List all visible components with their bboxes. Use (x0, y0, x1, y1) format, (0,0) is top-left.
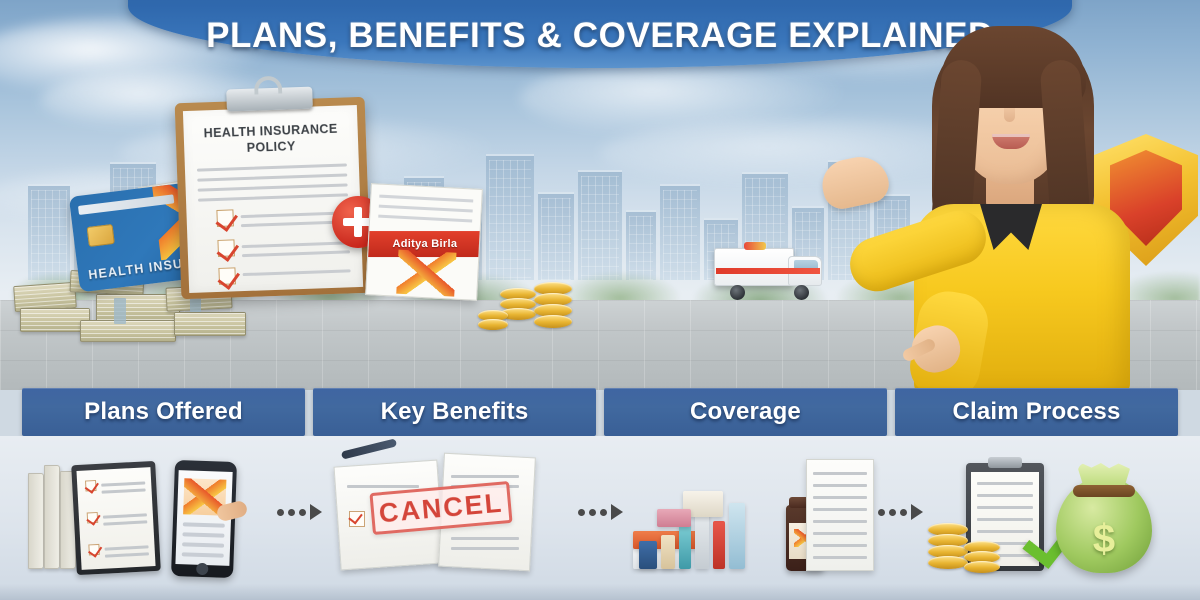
bag-tie (1073, 485, 1135, 497)
plans-offered-panel[interactable] (22, 436, 277, 588)
red-checkmark-icon (88, 544, 100, 556)
arrow-head-icon (911, 504, 923, 520)
insurance-brochure: Aditya Birla (365, 183, 483, 301)
key-benefits-panel[interactable]: CANCEL (323, 436, 578, 588)
checklist-clipboard (71, 461, 161, 575)
dollar-sign-icon: $ (1093, 517, 1115, 562)
red-checkmark-icon (217, 239, 235, 257)
policy-document: HEALTH INSURANCE POLICY (183, 105, 363, 293)
prescription-document (806, 459, 874, 571)
red-checkmark-icon (218, 267, 236, 285)
brand-logo-icon (396, 250, 456, 297)
flow-arrow-1 (277, 436, 323, 588)
tab-claim-process[interactable]: Claim Process (895, 388, 1178, 436)
red-checkmark-icon (216, 209, 234, 227)
cancel-stamp-text: CANCEL (377, 487, 504, 529)
presenter-woman-illustration (840, 8, 1200, 390)
section-tab-strip: Plans Offered Key Benefits Coverage Clai… (0, 388, 1200, 436)
red-checkmark-icon (85, 480, 97, 492)
claim-process-panel[interactable]: $ (924, 436, 1179, 588)
tab-coverage[interactable]: Coverage (604, 388, 887, 436)
bottom-shadow (0, 584, 1200, 600)
pen-icon (340, 438, 396, 459)
flow-arrow-3 (878, 436, 924, 588)
money-bag: $ (1056, 477, 1152, 573)
home-button-icon (196, 563, 208, 575)
arrow-head-icon (611, 504, 623, 520)
policy-clipboard: HEALTH INSURANCE POLICY (175, 97, 372, 300)
emergency-light-icon (744, 242, 766, 250)
coverage-panel[interactable] (623, 436, 878, 588)
brand-name: Aditya Birla (393, 238, 458, 250)
tab-plans-offered[interactable]: Plans Offered (22, 388, 305, 436)
insurance-infographic-poster: PLANS, BENEFITS & COVERAGE EXPLAINED HEA… (0, 0, 1200, 600)
card-chip-icon (87, 224, 115, 247)
tab-key-benefits[interactable]: Key Benefits (313, 388, 596, 436)
flow-arrow-2 (577, 436, 623, 588)
red-checkmark-icon (349, 511, 365, 527)
gold-coins-illustration (928, 517, 1012, 571)
section-panel-strip: CANCEL (0, 436, 1200, 600)
arrow-head-icon (310, 504, 322, 520)
ambulance-illustration (714, 242, 822, 298)
red-checkmark-icon (87, 512, 99, 524)
